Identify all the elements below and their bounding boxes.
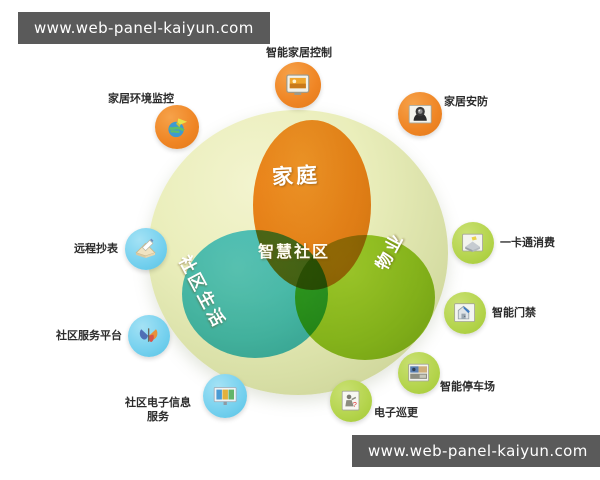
node-label-smart-parking: 智能停车场 [440, 380, 518, 394]
billboard-icon [212, 383, 238, 409]
cash-register-icon [460, 230, 485, 255]
node-home-security[interactable] [398, 92, 442, 136]
butterfly-icon [136, 323, 161, 348]
node-bubble [203, 374, 247, 418]
globe-plane-icon [164, 114, 190, 140]
node-electronic-patrol[interactable]: ? [330, 380, 372, 422]
node-label-home-env-monitor: 家居环境监控 [94, 92, 188, 106]
svg-text:?: ? [353, 400, 357, 409]
node-label-smart-home-control: 智能家居控制 [255, 46, 343, 60]
node-label-home-security: 家居安防 [444, 95, 506, 109]
node-remote-meter-reading[interactable] [125, 228, 167, 270]
node-community-service[interactable] [128, 315, 170, 357]
venn-center-label: 智慧社区 [258, 238, 330, 262]
node-label-smart-access: 智能门禁 [492, 306, 556, 320]
node-bubble [155, 105, 199, 149]
door-house-icon [452, 300, 477, 325]
node-label-one-card-payment: 一卡通消费 [500, 236, 576, 250]
node-label-community-service: 社区服务平台 [26, 329, 122, 343]
notebook-pen-icon [133, 236, 158, 261]
parking-icon [406, 360, 431, 385]
node-label-line1: 社区电子信息服务 [125, 396, 191, 423]
node-community-info[interactable] [203, 374, 247, 418]
node-bubble [444, 292, 486, 334]
node-bubble [128, 315, 170, 357]
watermark-bottom: www.web-panel-kaiyun.com [352, 435, 600, 467]
patrol-icon: ? [338, 388, 363, 413]
node-bubble [125, 228, 167, 270]
node-label-electronic-patrol: 电子巡更 [374, 406, 438, 420]
node-bubble [398, 92, 442, 136]
node-one-card-payment[interactable] [452, 222, 494, 264]
node-label-community-info: 社区电子信息服务 [112, 396, 204, 424]
camera-icon [407, 101, 433, 127]
node-bubble: ? [330, 380, 372, 422]
node-smart-access[interactable] [444, 292, 486, 334]
node-bubble [275, 62, 321, 108]
node-bubble [452, 222, 494, 264]
venn-diagram: 家庭 社区生活 物业 智慧社区 智能家居控制 家居环境监控 [0, 0, 600, 480]
monitor-icon [284, 71, 312, 99]
node-bubble [398, 352, 440, 394]
node-home-env-monitor[interactable] [155, 105, 199, 149]
node-smart-home-control[interactable] [275, 62, 321, 108]
node-label-remote-meter-reading: 远程抄表 [38, 242, 118, 256]
node-smart-parking[interactable] [398, 352, 440, 394]
